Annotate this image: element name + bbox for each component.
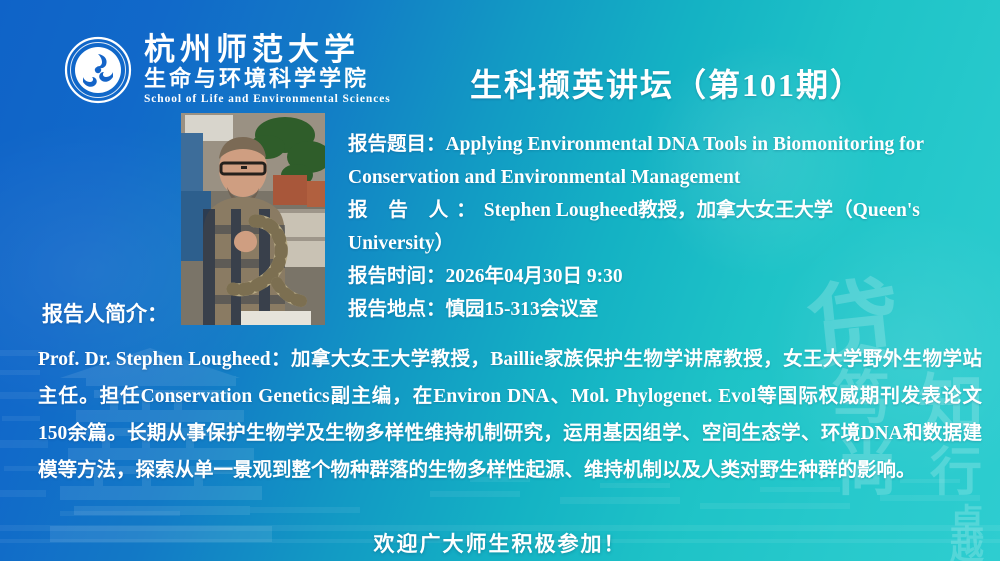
- detail-value: 慎园15-313会议室: [446, 299, 599, 320]
- detail-value: 2026年04月30日 9:30: [446, 266, 623, 287]
- seminar-details: 报告题目：Applying Environmental DNA Tools in…: [348, 128, 988, 326]
- logo-school-name: 生命与环境科学学院: [144, 68, 391, 90]
- footer-welcome-text: 欢迎广大师生积极参加！: [0, 528, 1000, 558]
- bio-label: 报告人简介：: [42, 298, 168, 328]
- hznu-school-emblem-icon: [64, 36, 132, 104]
- bio-text: Prof. Dr. Stephen Lougheed：加拿大女王大学教授，Bai…: [38, 341, 982, 489]
- speaker-photo: [181, 113, 325, 325]
- university-logo: 杭州师范大学 生命与环境科学学院 School of Life and Envi…: [64, 34, 391, 106]
- detail-row-speaker: 报 告 人：Stephen Lougheed教授，加拿大女王大学（Queen's…: [348, 194, 988, 260]
- detail-label: 报告地点：: [348, 299, 446, 320]
- logo-university-name: 杭州师范大学: [144, 34, 391, 65]
- detail-label: 报告题目：: [348, 134, 446, 155]
- logo-school-name-en: School of Life and Environmental Science…: [144, 94, 391, 106]
- detail-row-topic: 报告题目：Applying Environmental DNA Tools in…: [348, 128, 988, 194]
- detail-row-location: 报告地点：慎园15-313会议室: [348, 293, 988, 326]
- detail-row-time: 报告时间：2026年04月30日 9:30: [348, 260, 988, 293]
- seminar-poster: 贷 笃 知 尚 行 卓 越: [0, 0, 1000, 561]
- poster-title: 生科撷英讲坛（第101期）: [470, 60, 864, 106]
- detail-label: 报告时间：: [348, 266, 446, 287]
- detail-label: 报 告 人：: [348, 200, 484, 221]
